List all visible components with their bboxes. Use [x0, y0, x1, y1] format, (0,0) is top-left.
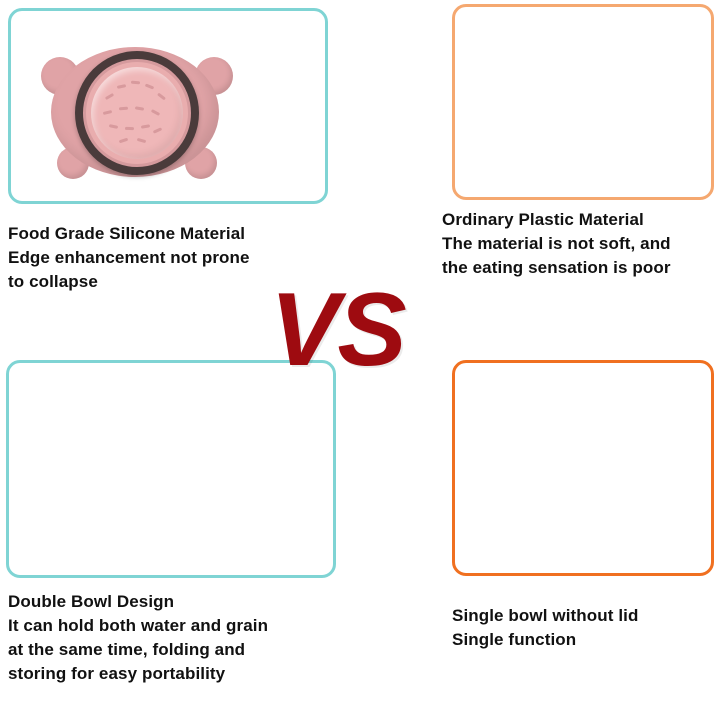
image-frame-top-right	[452, 4, 714, 200]
caption-top-right: Ordinary Plastic Material The material i…	[442, 208, 720, 280]
caption-line: Single function	[452, 628, 712, 652]
caption-line: Edge enhancement not prone	[8, 246, 338, 270]
caption-line: to collapse	[8, 270, 338, 294]
caption-line: It can hold both water and grain	[8, 614, 368, 638]
caption-line: The material is not soft, and	[442, 232, 720, 256]
caption-line: the eating sensation is poor	[442, 256, 720, 280]
bowl-lid-face	[91, 67, 183, 159]
caption-line: storing for easy portability	[8, 662, 368, 686]
image-frame-top-left	[8, 8, 328, 204]
silicone-closed-bowl-image	[39, 29, 235, 189]
comparison-infographic: VS Food Grade Silicone Material Edge enh…	[0, 0, 720, 720]
caption-line: Ordinary Plastic Material	[442, 208, 720, 232]
caption-line: Double Bowl Design	[8, 590, 368, 614]
caption-top-left: Food Grade Silicone Material Edge enhanc…	[8, 222, 338, 294]
caption-line: Food Grade Silicone Material	[8, 222, 338, 246]
image-frame-bottom-right	[452, 360, 714, 576]
caption-bottom-right: Single bowl without lid Single function	[452, 604, 712, 652]
image-frame-bottom-left	[6, 360, 336, 578]
caption-line: at the same time, folding and	[8, 638, 368, 662]
caption-line: Single bowl without lid	[452, 604, 712, 628]
caption-bottom-left: Double Bowl Design It can hold both wate…	[8, 590, 368, 687]
